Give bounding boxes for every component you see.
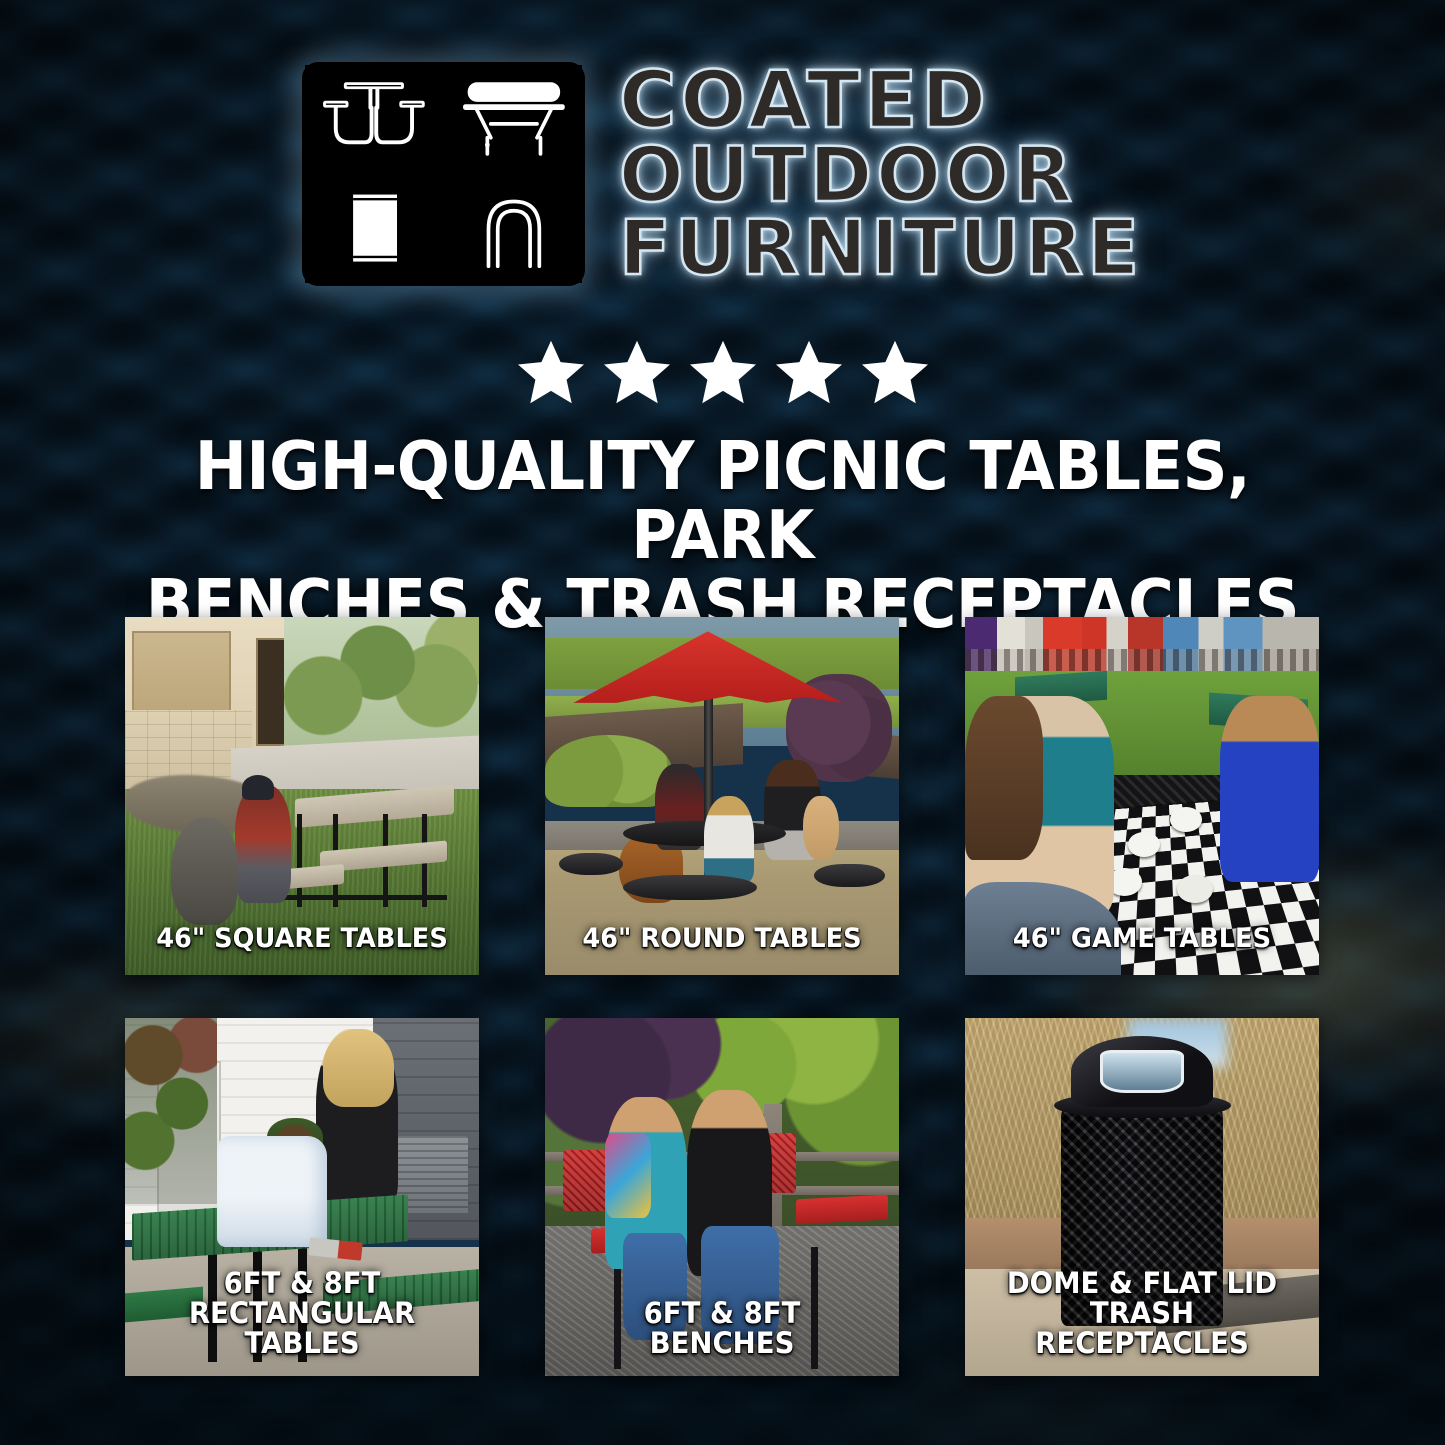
- product-caption: 6FT & 8FT BENCHES: [560, 1298, 885, 1358]
- product-photo: [965, 617, 1319, 975]
- product-grid: 46" SQUARE TABLES: [125, 617, 1323, 1376]
- product-tile-round-tables[interactable]: 46" ROUND TABLES: [545, 617, 899, 975]
- bench-table-icon: [445, 65, 582, 173]
- brand-line-2: OUTDOOR: [619, 139, 1076, 212]
- star-icon: [773, 336, 845, 408]
- brand-line-3: FURNITURE: [619, 212, 1143, 285]
- promo-banner: COATED OUTDOOR FURNITURE HIGH-QUALITY PI…: [0, 0, 1445, 1445]
- product-caption: DOME & FLAT LID TRASH RECEPTACLES: [980, 1268, 1305, 1358]
- product-caption: 46" SQUARE TABLES: [140, 925, 465, 953]
- product-caption: 46" GAME TABLES: [980, 925, 1305, 953]
- picnic-table-icon: [305, 65, 442, 173]
- product-caption: 6FT & 8FT RECTANGULAR TABLES: [140, 1268, 465, 1358]
- product-tile-game-tables[interactable]: 46" GAME TABLES: [965, 617, 1319, 975]
- logo-block: COATED OUTDOOR FURNITURE: [0, 62, 1445, 286]
- star-rating: [0, 336, 1445, 408]
- logo-mark: [302, 62, 585, 286]
- trash-receptacle-icon: [305, 176, 442, 284]
- product-photo: [125, 617, 479, 975]
- brand-line-1: COATED: [619, 64, 990, 139]
- product-tile-benches[interactable]: 6FT & 8FT BENCHES: [545, 1018, 899, 1376]
- star-icon: [601, 336, 673, 408]
- product-photo: [545, 617, 899, 975]
- page-title: HIGH-QUALITY PICNIC TABLES, PARK BENCHES…: [106, 432, 1338, 639]
- star-icon: [687, 336, 759, 408]
- product-caption: 46" ROUND TABLES: [560, 925, 885, 953]
- product-tile-trash-receptacles[interactable]: DOME & FLAT LID TRASH RECEPTACLES: [965, 1018, 1319, 1376]
- product-tile-rectangular-tables[interactable]: 6FT & 8FT RECTANGULAR TABLES: [125, 1018, 479, 1376]
- star-icon: [859, 336, 931, 408]
- product-tile-square-tables[interactable]: 46" SQUARE TABLES: [125, 617, 479, 975]
- brand-text: COATED OUTDOOR FURNITURE: [619, 62, 1143, 285]
- star-icon: [515, 336, 587, 408]
- bike-rack-arch-icon: [445, 176, 582, 284]
